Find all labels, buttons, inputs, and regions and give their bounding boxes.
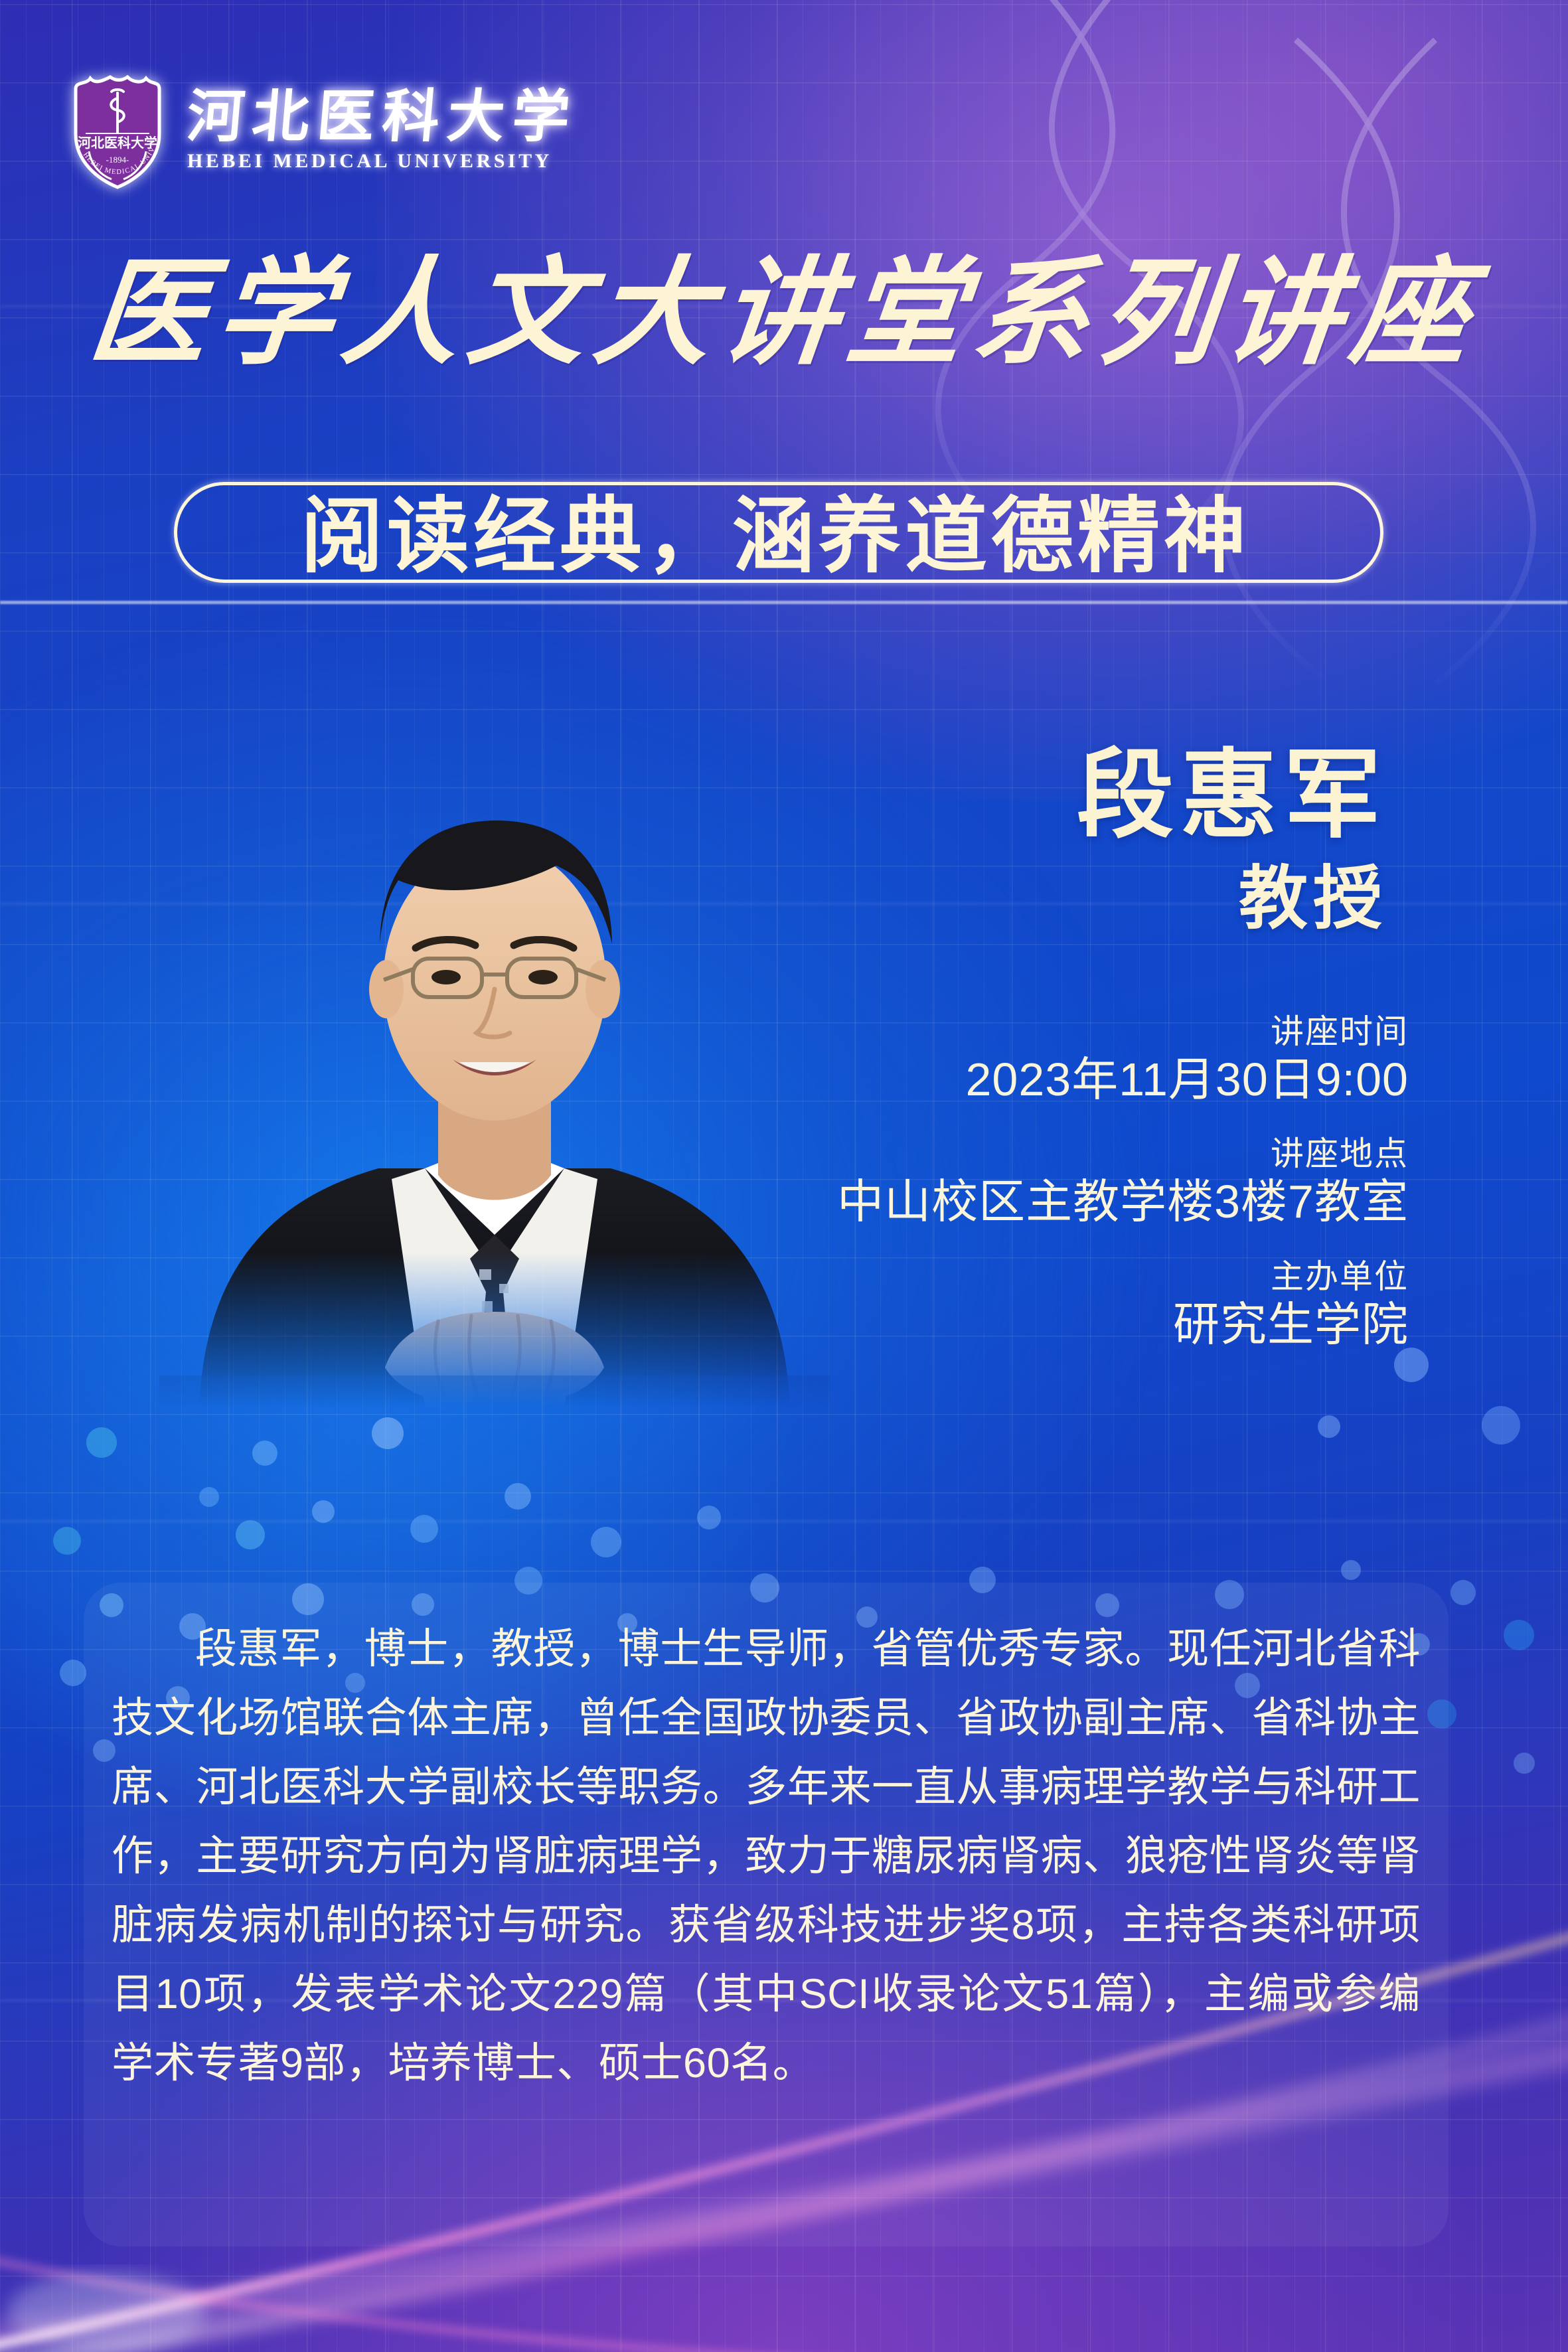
light-band bbox=[0, 601, 1568, 604]
speaker-portrait bbox=[159, 704, 830, 1407]
detail-label-location: 讲座地点 bbox=[837, 1135, 1409, 1174]
subtitle-text: 阅读经典，涵养道德精神 bbox=[174, 465, 1377, 592]
speaker-name: 段惠军 bbox=[1077, 717, 1387, 857]
lecture-details: 讲座时间 2023年11月30日9:00 讲座地点 中山校区主教学楼3楼7教室 … bbox=[837, 1012, 1409, 1353]
logo-name-cn: 河北医科大学 bbox=[185, 89, 580, 145]
detail-label-time: 讲座时间 bbox=[837, 1012, 1409, 1052]
page-title: 医学人文大讲堂系列讲座 bbox=[0, 256, 1568, 373]
university-logo: 河北医科大学 -1894- HEBEI MEDICAL UNIVERSITY 河… bbox=[64, 69, 578, 193]
logo-name-en: HEBEI MEDICAL UNIVERSITY bbox=[187, 150, 552, 173]
detail-value-time: 2023年11月30日9:00 bbox=[837, 1052, 1409, 1108]
poster-root: 河北医科大学 -1894- HEBEI MEDICAL UNIVERSITY 河… bbox=[0, 0, 1568, 2352]
crest-year: -1894- bbox=[106, 155, 129, 165]
detail-label-organizer: 主办单位 bbox=[837, 1257, 1409, 1296]
svg-text:河北医科大学: 河北医科大学 bbox=[78, 135, 157, 151]
detail-value-location: 中山校区主教学楼3楼7教室 bbox=[837, 1174, 1409, 1230]
speaker-title: 教授 bbox=[1239, 842, 1387, 942]
light-band bbox=[0, 1520, 1568, 1522]
biography-text: 段惠军，博士，教授，博士生导师，省管优秀专家。现任河北省科技文化场馆联合体主席，… bbox=[112, 1614, 1421, 2098]
detail-value-organizer: 研究生学院 bbox=[837, 1296, 1409, 1353]
university-crest-icon: 河北医科大学 -1894- HEBEI MEDICAL UNIVERSITY bbox=[64, 69, 170, 193]
